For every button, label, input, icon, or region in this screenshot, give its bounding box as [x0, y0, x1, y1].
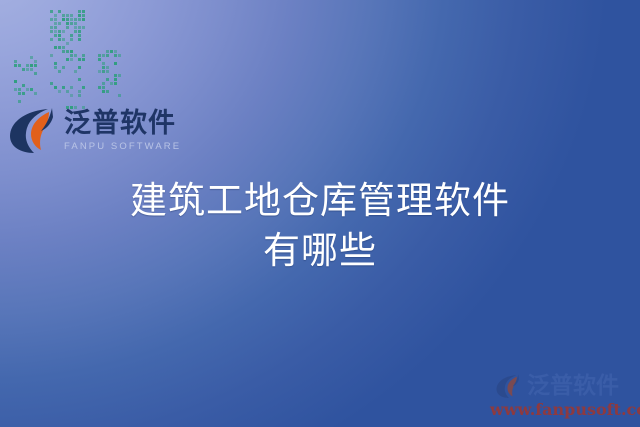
watermark-brand-name: 泛普软件 [527, 375, 619, 398]
brand-name-cn: 泛普软件 [64, 110, 181, 137]
watermark-fanpu-swoosh-logo-icon [494, 373, 524, 399]
brand-logo: 泛普软件 FANPU SOFTWARE [8, 105, 181, 155]
pixel-city-skyline-icon [14, 10, 126, 110]
page-title-line-1: 建筑工地仓库管理软件 [0, 176, 640, 226]
page-title-line-2: 有哪些 [0, 226, 640, 276]
watermark-url: www.fanpusoft.com [490, 400, 636, 419]
watermark: 泛普软件 www.fanpusoft.com [490, 373, 636, 419]
brand-name-en: FANPU SOFTWARE [64, 142, 181, 152]
page-title: 建筑工地仓库管理软件 有哪些 [0, 176, 640, 276]
promo-banner: 泛普软件 FANPU SOFTWARE 建筑工地仓库管理软件 有哪些 泛普软件 … [0, 0, 640, 427]
fanpu-swoosh-logo-icon [8, 105, 60, 155]
